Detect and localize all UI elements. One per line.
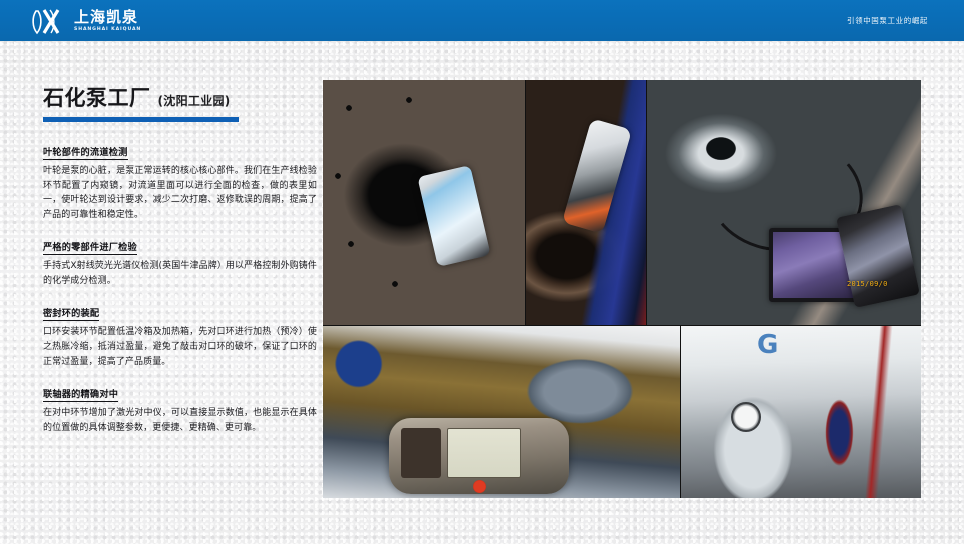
page-title-main: 石化泵工厂: [43, 82, 151, 112]
section-heading: 联轴器的精确对中: [43, 386, 118, 402]
power-button-icon: [473, 480, 486, 493]
page-title-sub: (沈阳工业园): [158, 92, 231, 109]
pressure-gauge-icon: [731, 402, 761, 432]
workshop-assembly-photo: G 装配车间: [681, 326, 921, 498]
section-heading: 叶轮部件的流道检测: [43, 144, 128, 160]
section-body: 口环安装环节配置低温冷箱及加热箱，先对口环进行加热（预冷）使之热胀冷缩，抵消过盈…: [43, 325, 317, 369]
section-heading: 严格的零部件进厂检验: [43, 239, 137, 255]
worker-uniform-shape: [526, 80, 646, 325]
impeller-borescope-photo: 2015/09/0 叶轮内窥镜检测: [647, 80, 921, 325]
slide: 上海凯泉 SHANGHAI KAIQUAN 引领中国泵工业的崛起 石化泵工厂 (…: [0, 0, 964, 544]
section-body: 手持式X射线荧光光谱仪检测(英国牛津品牌）用以严格控制外购铸件的化学成分检测。: [43, 259, 317, 288]
section-heading: 密封环的装配: [43, 305, 99, 321]
section-flow-passage-inspection: 叶轮部件的流道检测 叶轮是泵的心脏，是泵正常运转的核心核心部件。我们在生产线检验…: [43, 140, 317, 222]
brand-logo[interactable]: 上海凯泉 SHANGHAI KAIQUAN: [32, 8, 141, 35]
section-seal-ring-assembly: 密封环的装配 口环安装环节配置低温冷箱及加热箱，先对口环进行加热（预冷）使之热胀…: [43, 301, 317, 369]
laser-alignment-device: [389, 418, 569, 494]
device-display-screen: [447, 428, 521, 478]
header-tagline: 引领中国泵工业的崛起: [847, 0, 928, 41]
title-underline: [43, 117, 239, 122]
section-coupling-alignment: 联轴器的精确对中 在对中环节增加了激光对中仪，可以直接显示数值，也能显示在具体的…: [43, 382, 317, 435]
content-column: 石化泵工厂 (沈阳工业园) 叶轮部件的流道检测 叶轮是泵的心脏，是泵正常运转的核…: [43, 82, 317, 448]
xrf-analyzer-photo: 手持式X射线荧光光谱仪检测: [526, 80, 646, 325]
device-keypad: [401, 428, 441, 478]
photo-collage: 叶轮端面与手持检测终端 手持式X射线荧光光谱仪检测 2015/09/0 叶轮内窥…: [323, 80, 921, 498]
section-incoming-parts-inspection: 严格的零部件进厂检验 手持式X射线荧光光谱仪检测(英国牛津品牌）用以严格控制外购…: [43, 235, 317, 288]
impeller-handheld-scanner-photo: 叶轮端面与手持检测终端: [323, 80, 525, 325]
logo-english-name: SHANGHAI KAIQUAN: [74, 28, 141, 33]
section-body: 叶轮是泵的心脏，是泵正常运转的核心核心部件。我们在生产线检验环节配置了内窥镜，对…: [43, 164, 317, 222]
photo-timestamp: 2015/09/0: [847, 280, 888, 288]
page-title: 石化泵工厂 (沈阳工业园): [43, 82, 317, 112]
section-body: 在对中环节增加了激光对中仪，可以直接显示数值，也能显示在具体的位置做的具体调整参…: [43, 406, 317, 435]
workshop-scene-shapes: [681, 326, 921, 498]
section-list: 叶轮部件的流道检测 叶轮是泵的心脏，是泵正常运转的核心核心部件。我们在生产线检验…: [43, 140, 317, 435]
kaiquan-logo-icon: [32, 8, 68, 35]
header-bar: 上海凯泉 SHANGHAI KAIQUAN 引领中国泵工业的崛起: [0, 0, 964, 41]
impeller-bolt-holes: [323, 80, 525, 325]
coupling-laser-alignment-photo: 联轴器激光对中仪: [323, 326, 680, 498]
logo-chinese-name: 上海凯泉: [74, 10, 141, 25]
workshop-marking-letter: G: [757, 330, 778, 360]
